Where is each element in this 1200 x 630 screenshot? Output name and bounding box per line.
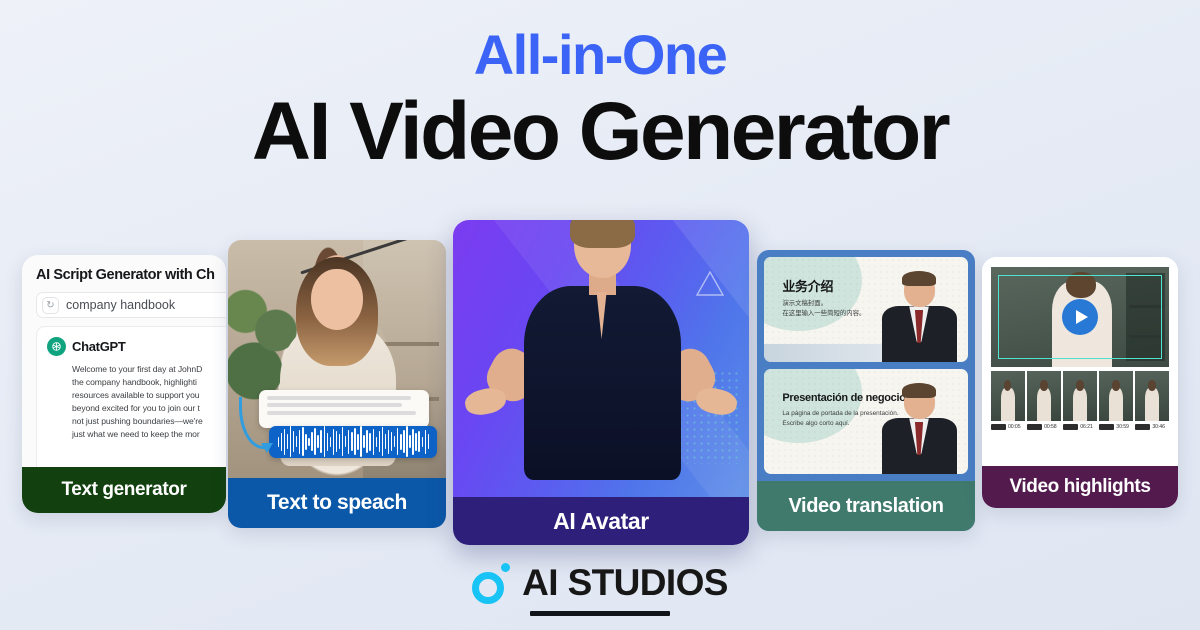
video-preview[interactable]: [991, 267, 1169, 367]
slide-presenter: [878, 274, 960, 362]
script-text-card: [259, 390, 429, 428]
page-headline: All-in-One AI Video Generator: [0, 26, 1200, 173]
card-text-to-speech[interactable]: Text to speach: [228, 240, 446, 528]
waveform-bar: [330, 437, 331, 447]
waveform-bar: [324, 426, 325, 457]
waveform-bar: [363, 435, 364, 448]
waveform-bar: [388, 430, 389, 454]
thumbnail-timestamp-row: 00:05: [991, 424, 1025, 430]
waveform-bar: [373, 429, 374, 455]
card-text-generator-body: AI Script Generator with Ch ↻ company ha…: [22, 255, 226, 467]
footer: AI STUDIOS: [0, 562, 1200, 616]
thumbnail-image: [1063, 371, 1097, 421]
logo-ring-shape: [472, 572, 504, 604]
thumbnail-timestamp-row: 30:59: [1099, 424, 1133, 430]
highlight-thumbnail[interactable]: 30:46: [1135, 371, 1169, 430]
waveform-bar: [400, 434, 401, 450]
waveform-bar: [397, 428, 398, 455]
timestamp-chip: [1027, 424, 1042, 430]
audio-waveform: [269, 426, 437, 458]
waveform-bar: [415, 433, 416, 451]
presenter-hair: [902, 383, 936, 398]
highlight-thumbnail-strip: 00:0500:5806:2130:5930:46: [991, 371, 1169, 430]
waveform-bar: [299, 430, 300, 454]
waveform-bar: [382, 427, 383, 456]
waveform-bar: [305, 434, 306, 450]
waveform-bar: [422, 437, 423, 447]
assistant-response-text: Welcome to your first day at JohnD the c…: [72, 363, 226, 441]
waveform-bar: [320, 430, 321, 452]
card-ai-avatar[interactable]: AI Avatar: [453, 220, 749, 545]
translation-slide-zh: 业务介绍 演示文稿封面。 在这里输入一些简短的内容。: [764, 257, 968, 362]
waveform-bar: [428, 434, 429, 448]
waveform-bar: [278, 437, 279, 447]
waveform-bar: [311, 432, 312, 451]
card-label-text-generator: Text generator: [22, 467, 226, 513]
thumbnail-timestamp-row: 30:46: [1135, 424, 1169, 430]
timestamp-label: 30:59: [1116, 424, 1128, 430]
timestamp-label: 00:58: [1044, 424, 1056, 430]
timestamp-label: 30:46: [1152, 424, 1164, 430]
waveform-bar: [403, 430, 404, 452]
card-text-generator[interactable]: AI Script Generator with Ch ↻ company ha…: [22, 255, 226, 513]
slide-footer-image: [764, 344, 890, 362]
waveform-bar: [339, 434, 340, 448]
waveform-bar: [345, 436, 346, 447]
timestamp-chip: [1063, 424, 1078, 430]
timestamp-label: 00:05: [1008, 424, 1020, 430]
waveform-bar: [317, 435, 318, 448]
page-title: AI Video Generator: [0, 91, 1200, 173]
brand-name: AI STUDIOS: [522, 562, 728, 604]
text-line: [267, 411, 416, 415]
waveform-bar: [290, 426, 291, 457]
footer-accent-bar: [530, 611, 670, 616]
waveform-bar: [287, 434, 288, 448]
waveform-bar: [376, 437, 377, 447]
triangle-outline-icon: [695, 270, 725, 295]
waveform-bar: [425, 430, 426, 454]
waveform-bar: [293, 431, 294, 452]
highlight-thumbnail[interactable]: 00:05: [991, 371, 1025, 430]
card-text-to-speech-body: [228, 240, 446, 478]
waveform-bar: [406, 426, 407, 457]
card-ai-avatar-body: [453, 220, 749, 497]
waveform-bar: [296, 436, 297, 447]
waveform-bar: [379, 431, 380, 452]
timestamp-label: 06:21: [1080, 424, 1092, 430]
thumbnail-image: [1099, 371, 1133, 421]
timestamp-chip: [1135, 424, 1150, 430]
presenter-hair: [902, 271, 936, 286]
thumbnail-image: [1027, 371, 1061, 421]
card-video-highlights[interactable]: 00:0500:5806:2130:5930:46 Video highligh…: [982, 257, 1178, 508]
headline-eyebrow: All-in-One: [0, 26, 1200, 85]
card-label-text-to-speech: Text to speach: [228, 478, 446, 528]
card-label-video-highlights: Video highlights: [982, 466, 1178, 508]
script-query-bar[interactable]: ↻ company handbook: [36, 292, 226, 318]
waveform-bar: [281, 433, 282, 451]
waveform-bar: [348, 430, 349, 454]
timestamp-chip: [991, 424, 1006, 430]
waveform-bar: [284, 429, 285, 455]
brand-logo: AI STUDIOS: [472, 562, 728, 604]
avatar-hair: [570, 220, 635, 248]
waveform-bar: [302, 427, 303, 456]
text-line: [267, 396, 412, 400]
thumbnail-image: [1135, 371, 1169, 421]
translation-slide-es: Presentación de negocios La página de po…: [764, 369, 968, 474]
text-line: [267, 403, 403, 407]
refresh-icon[interactable]: ↻: [42, 297, 59, 314]
waveform-bar: [336, 431, 337, 452]
highlight-thumbnail[interactable]: 00:58: [1027, 371, 1061, 430]
waveform-bar: [385, 434, 386, 448]
thumbnail-timestamp-row: 06:21: [1063, 424, 1097, 430]
waveform-bar: [391, 432, 392, 451]
waveform-bar: [366, 430, 367, 452]
waveform-bar: [333, 429, 334, 455]
waveform-bar: [342, 427, 343, 456]
card-label-video-translation: Video translation: [757, 481, 975, 531]
waveform-bar: [418, 431, 419, 452]
highlight-thumbnail[interactable]: 06:21: [1063, 371, 1097, 430]
waveform-bar: [354, 428, 355, 455]
feature-card-row: AI Script Generator with Ch ↻ company ha…: [0, 215, 1200, 550]
highlight-thumbnail[interactable]: 30:59: [1099, 371, 1133, 430]
card-video-translation-body: 业务介绍 演示文稿封面。 在这里输入一些简短的内容。: [757, 250, 975, 481]
card-video-translation[interactable]: 业务介绍 演示文稿封面。 在这里输入一些简短的内容。: [757, 250, 975, 531]
card-video-highlights-body: 00:0500:5806:2130:5930:46: [982, 257, 1178, 466]
thumbnail-image: [991, 371, 1025, 421]
timestamp-chip: [1099, 424, 1114, 430]
waveform-bar: [409, 435, 410, 448]
waveform-bar: [314, 428, 315, 455]
chatgpt-logo-icon: [47, 337, 66, 356]
waveform-bar: [394, 436, 395, 447]
waveform-bar: [360, 426, 361, 457]
play-icon[interactable]: [1062, 299, 1098, 335]
waveform-bar: [351, 432, 352, 451]
card-label-ai-avatar: AI Avatar: [453, 497, 749, 545]
chatgpt-answer-panel: ChatGPT Welcome to your first day at Joh…: [36, 326, 226, 467]
thumbnail-timestamp-row: 00:58: [1027, 424, 1061, 430]
assistant-name: ChatGPT: [72, 339, 126, 354]
waveform-bar: [327, 433, 328, 451]
slide-presenter: [878, 386, 960, 474]
waveform-bar: [308, 438, 309, 446]
ai-studios-logo-icon: [472, 562, 510, 604]
waveform-bar: [357, 434, 358, 450]
waveform-bar: [369, 433, 370, 451]
waveform-bar: [412, 429, 413, 455]
script-query-value: company handbook: [66, 298, 175, 312]
logo-dot-shape: [501, 563, 510, 572]
script-generator-title: AI Script Generator with Ch: [36, 267, 226, 283]
